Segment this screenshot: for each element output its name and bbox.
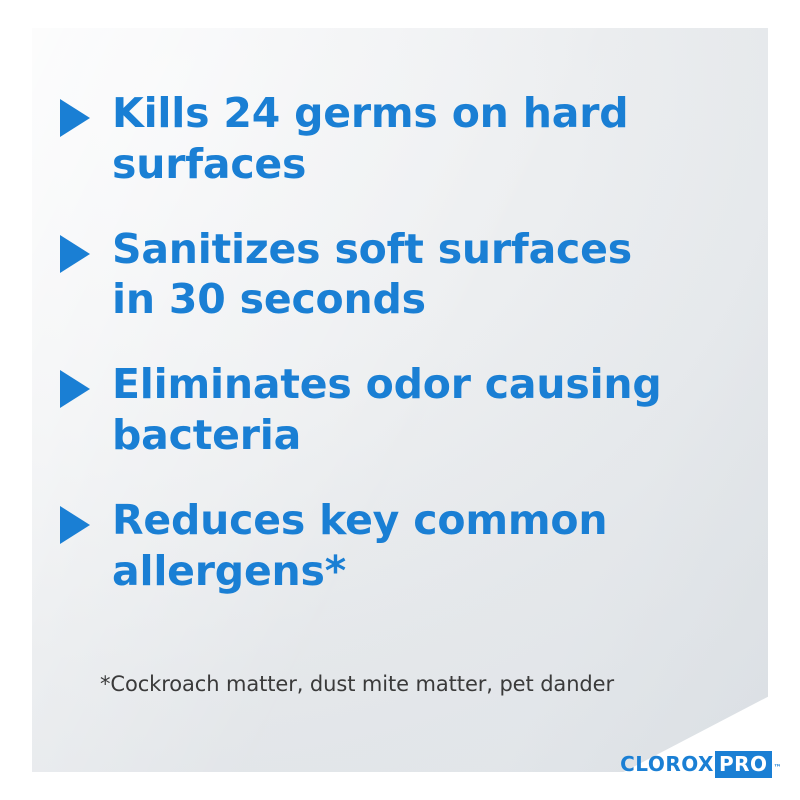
bullet-text: Reduces key common allergens* — [112, 495, 672, 597]
bullet-text: Kills 24 germs on hard surfaces — [112, 88, 672, 190]
cloroxpro-logo: CLOROX PRO ™ — [620, 751, 782, 778]
brand-name-pro: PRO — [715, 751, 772, 778]
feature-bullet-list: Kills 24 germs on hard surfaces Sanitize… — [60, 88, 700, 631]
list-item: Kills 24 germs on hard surfaces — [60, 88, 700, 190]
list-item: Sanitizes soft surfaces in 30 seconds — [60, 224, 700, 326]
triangle-right-icon — [60, 235, 90, 273]
product-feature-image: Kills 24 germs on hard surfaces Sanitize… — [0, 0, 800, 800]
brand-name-clorox: CLOROX — [620, 752, 714, 776]
list-item: Eliminates odor causing bacteria — [60, 359, 700, 461]
triangle-right-icon — [60, 506, 90, 544]
trademark-symbol: ™ — [774, 763, 783, 772]
list-item: Reduces key common allergens* — [60, 495, 700, 597]
triangle-right-icon — [60, 370, 90, 408]
corner-triangle-shape — [570, 680, 800, 800]
bullet-text: Eliminates odor causing bacteria — [112, 359, 672, 461]
bullet-text: Sanitizes soft surfaces in 30 seconds — [112, 224, 672, 326]
triangle-right-icon — [60, 99, 90, 137]
brand-corner: CLOROX PRO ™ — [500, 680, 800, 800]
